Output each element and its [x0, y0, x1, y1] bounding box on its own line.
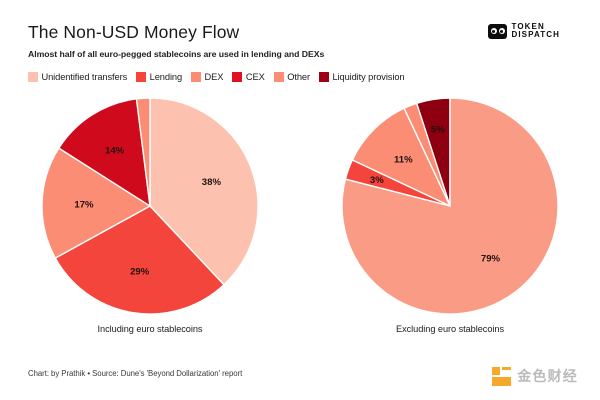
pie-charts-area: 38%29%17%14%Including euro stablecoins5%…: [0, 95, 600, 345]
legend-item-label: DEX: [205, 72, 224, 82]
brand-logo: TOKEN DISPATCH: [488, 23, 560, 39]
pie-chart: 38%29%17%14%: [39, 95, 261, 317]
jinse-finance-watermark: 金色财经: [492, 366, 578, 386]
pie-slice-value-label: 79%: [481, 254, 501, 265]
legend-item[interactable]: CEX: [232, 72, 264, 82]
pie-chart-caption: Including euro stablecoins: [98, 324, 203, 334]
pie-slice-value-label: 17%: [74, 199, 94, 210]
pie-slice-value-label: 29%: [130, 267, 150, 278]
chart-credit: Chart: by Prathik • Source: Dune's 'Beyo…: [28, 369, 242, 378]
pie-slice-value-label: 14%: [105, 146, 125, 157]
pie-chart: 5%11%3%79%: [339, 95, 561, 317]
pie-chart-panel: 38%29%17%14%Including euro stablecoins: [0, 95, 300, 345]
legend-item[interactable]: Unidentified transfers: [28, 72, 127, 82]
brand-wordmark: TOKEN DISPATCH: [511, 23, 560, 39]
pie-svg: 38%29%17%14%: [39, 95, 261, 317]
legend-item-label: Liquidity provision: [332, 72, 404, 82]
legend-swatch-icon: [274, 72, 284, 82]
chart-legend: Unidentified transfersLendingDEXCEXOther…: [28, 72, 404, 82]
legend-item-label: Unidentified transfers: [42, 72, 128, 82]
pie-slice-value-label: 38%: [202, 177, 222, 188]
legend-swatch-icon: [28, 72, 38, 82]
pie-chart-caption: Excluding euro stablecoins: [396, 324, 504, 334]
page-subtitle: Almost half of all euro-pegged stablecoi…: [28, 49, 572, 59]
jinse-finance-logo-icon: [492, 367, 511, 386]
legend-swatch-icon: [319, 72, 329, 82]
legend-item-label: Other: [287, 72, 310, 82]
brand-line-2: DISPATCH: [511, 31, 560, 39]
legend-item[interactable]: Liquidity provision: [319, 72, 405, 82]
pie-chart-panel: 5%11%3%79%Excluding euro stablecoins: [300, 95, 600, 345]
pie-svg: 5%11%3%79%: [339, 95, 561, 317]
legend-swatch-icon: [136, 72, 146, 82]
pie-slice-value-label: 3%: [370, 175, 384, 186]
legend-item[interactable]: DEX: [191, 72, 223, 82]
pie-slice-value-label: 5%: [431, 125, 445, 136]
legend-item[interactable]: Other: [274, 72, 310, 82]
token-dispatch-eyes-icon: [488, 24, 507, 39]
legend-swatch-icon: [232, 72, 242, 82]
eye-left-icon: [491, 28, 498, 35]
legend-item-label: Lending: [150, 72, 182, 82]
legend-item[interactable]: Lending: [136, 72, 182, 82]
legend-swatch-icon: [191, 72, 201, 82]
legend-item-label: CEX: [246, 72, 265, 82]
eye-right-icon: [499, 28, 506, 35]
chart-page: { "header": { "title": "The Non-USD Mone…: [0, 0, 600, 400]
pie-slice-value-label: 11%: [394, 155, 413, 166]
watermark-text: 金色财经: [517, 366, 578, 386]
